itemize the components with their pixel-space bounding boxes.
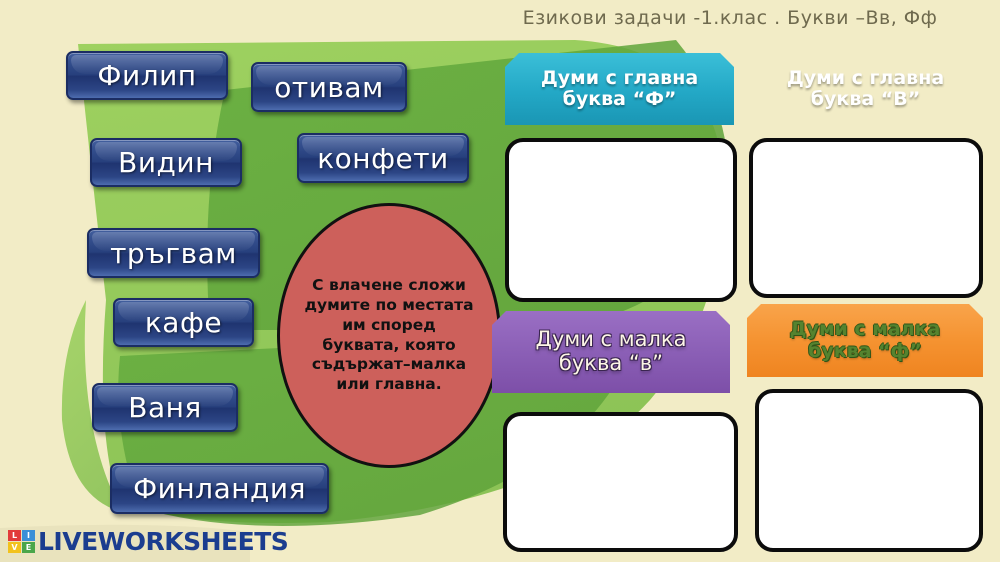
word-card[interactable]: Филип xyxy=(66,51,228,100)
category-tab-small-f: Думи с малкабуква “ф” xyxy=(747,304,983,377)
word-card[interactable]: отивам xyxy=(251,62,407,112)
word-card[interactable]: Видин xyxy=(90,138,242,187)
logo-tile-v: V xyxy=(8,542,21,553)
logo-tiles-icon: L I V E xyxy=(8,530,35,553)
category-tab-capital-f: Думи с главнабуква “Ф” xyxy=(505,53,734,125)
word-card[interactable]: Финландия xyxy=(110,463,329,514)
logo-tile-l: L xyxy=(8,530,21,541)
category-tab-small-v: Думи с малкабуква “в” xyxy=(492,311,730,393)
logo-tile-i: I xyxy=(22,530,35,541)
logo-tile-e: E xyxy=(22,542,35,553)
drop-zone-capital-v[interactable] xyxy=(749,138,983,298)
liveworksheets-logo: L I V E LIVEWORKSHEETS xyxy=(8,527,288,556)
logo-wordmark: LIVEWORKSHEETS xyxy=(38,527,288,556)
drop-zone-small-v[interactable] xyxy=(503,412,738,552)
drop-zone-capital-f[interactable] xyxy=(505,138,737,302)
category-tab-capital-v: Думи с главнабуква “В” xyxy=(749,53,982,125)
word-card[interactable]: тръгвам xyxy=(87,228,260,278)
page-title: Езикови задачи -1.клас . Букви –Вв, Фф xyxy=(470,7,990,29)
drop-zone-small-f[interactable] xyxy=(755,389,983,552)
worksheet-canvas: Езикови задачи -1.клас . Букви –Вв, Фф Ф… xyxy=(0,0,1000,562)
word-card[interactable]: кафе xyxy=(113,298,254,347)
instruction-bubble: С влачене сложи думите по местата им спо… xyxy=(277,203,501,468)
word-card[interactable]: конфети xyxy=(297,133,469,183)
word-card[interactable]: Ваня xyxy=(92,383,238,432)
instruction-text: С влачене сложи думите по местата им спо… xyxy=(302,276,476,395)
